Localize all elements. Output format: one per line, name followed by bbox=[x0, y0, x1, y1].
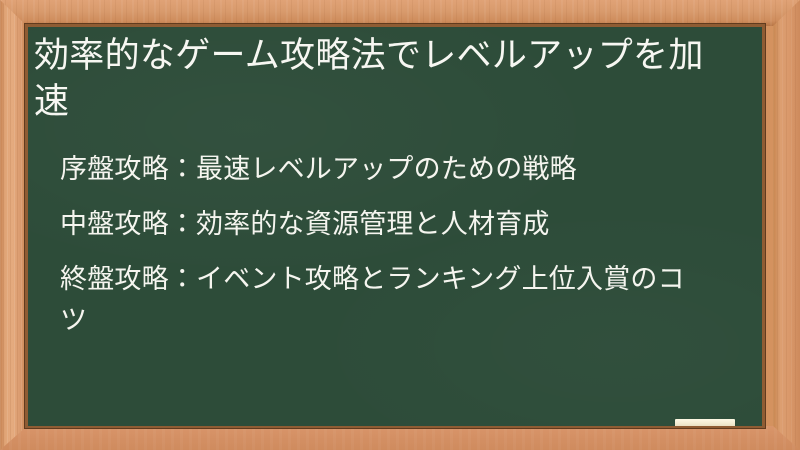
slide-content: 効率的なゲーム攻略法でレベルアップを加速 序盤攻略：最速レベルアップのための戦略… bbox=[28, 27, 762, 341]
slide-title: 効率的なゲーム攻略法でレベルアップを加速 bbox=[32, 33, 732, 125]
bullet-item-2: 中盤攻略：効率的な資源管理と人材育成 bbox=[60, 204, 708, 245]
bullet-item-1: 序盤攻略：最速レベルアップのための戦略 bbox=[60, 149, 708, 190]
blackboard-frame: 効率的なゲーム攻略法でレベルアップを加速 序盤攻略：最速レベルアップのための戦略… bbox=[0, 0, 800, 450]
slide-bullet-list: 序盤攻略：最速レベルアップのための戦略 中盤攻略：効率的な資源管理と人材育成 終… bbox=[32, 149, 740, 341]
chalk-stick-icon bbox=[675, 419, 735, 426]
bullet-item-3: 終盤攻略：イベント攻略とランキング上位入賞のコツ bbox=[60, 259, 708, 341]
frame-plank-left bbox=[0, 0, 27, 450]
frame-plank-right bbox=[773, 0, 800, 450]
frame-plank-bottom bbox=[0, 426, 800, 450]
blackboard-surface: 効率的なゲーム攻略法でレベルアップを加速 序盤攻略：最速レベルアップのための戦略… bbox=[28, 27, 762, 426]
